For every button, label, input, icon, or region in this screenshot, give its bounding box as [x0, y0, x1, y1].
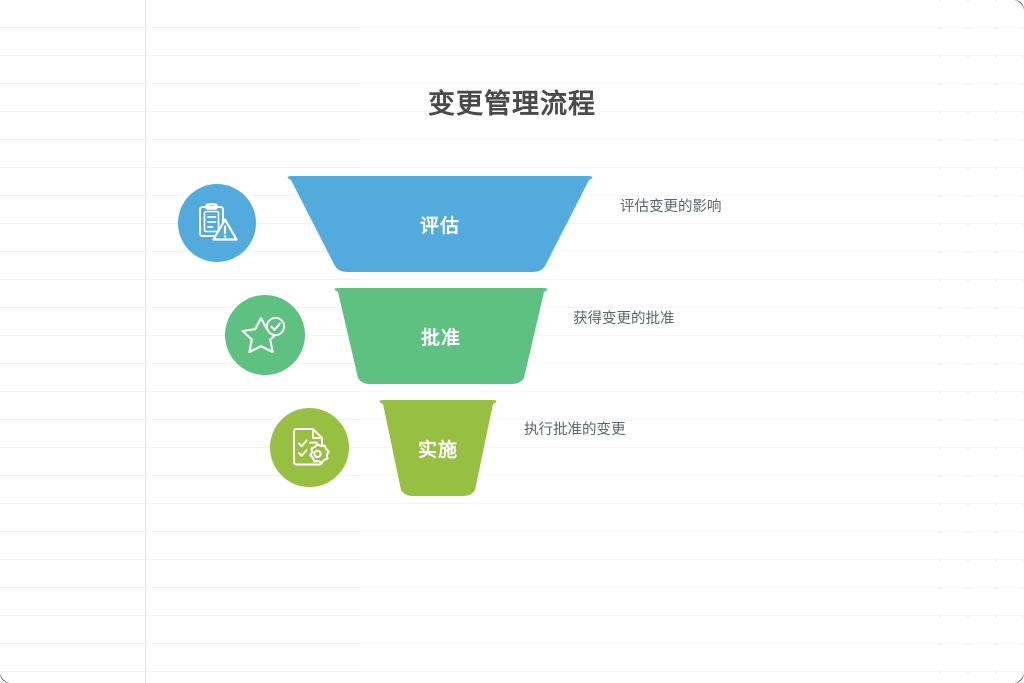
funnel-stage-row: 实施 执行批准的变更: [0, 400, 1024, 496]
funnel-stage-row: 评估 评估变更的影响: [0, 176, 1024, 272]
funnel-stage-description: 获得变更的批准: [573, 307, 675, 328]
diagram-canvas: 变更管理流程 评估 评估变更的影响: [0, 0, 1024, 683]
clipboard-warning-icon: [193, 199, 241, 247]
corner-mask-top-left: [0, 0, 12, 12]
corner-mask-top-right: [1012, 0, 1024, 12]
document-gear-icon: [286, 424, 334, 472]
stage-icon-star-check: [225, 295, 305, 375]
funnel-stage-description: 执行批准的变更: [524, 418, 626, 439]
corner-mask-bottom-left: [0, 671, 12, 683]
funnel-stage-description: 评估变更的影响: [620, 195, 722, 216]
funnel-segment-shape: [375, 400, 501, 496]
corner-mask-bottom-right: [1012, 671, 1024, 683]
stage-icon-document-gear: [270, 408, 349, 487]
funnel-segment-shape: [283, 176, 597, 272]
page-title: 变更管理流程: [0, 82, 1024, 121]
funnel-stage-row: 批准 获得变更的批准: [0, 288, 1024, 384]
funnel-segment-shape: [330, 288, 552, 384]
star-check-icon: [241, 311, 289, 359]
stage-icon-clipboard-warning: [178, 184, 256, 262]
